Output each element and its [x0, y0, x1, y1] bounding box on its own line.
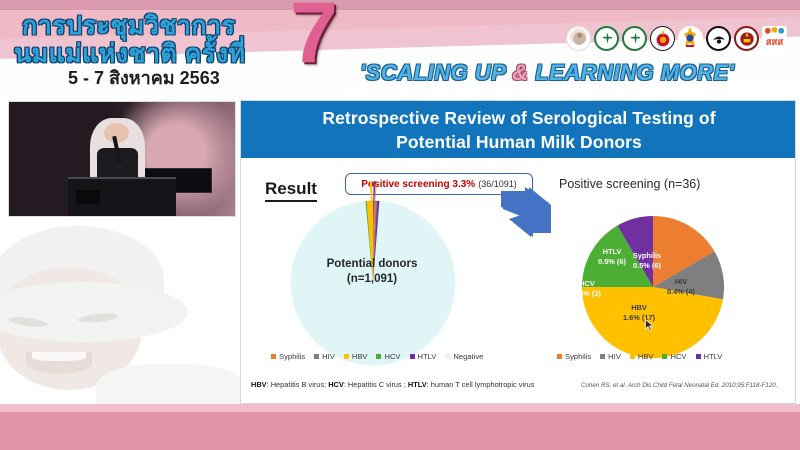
- footnote-abbr-hbv: HBV: [251, 380, 267, 389]
- left-pie-label-line1: Potential donors: [297, 257, 447, 272]
- legend-swatch-htlv: [696, 354, 701, 359]
- legend-item-hbv[interactable]: HBV: [344, 352, 368, 361]
- legend-swatch-hcv: [376, 354, 381, 359]
- legend-item-hcv[interactable]: HCV: [662, 352, 686, 361]
- sliver-htlv: [373, 181, 376, 225]
- left-pie-label-line2: (n=1,091): [297, 272, 447, 287]
- legend-label-hiv: HIV: [322, 352, 335, 361]
- legend-swatch-hbv: [630, 354, 635, 359]
- footnote-text-hcv: : Hepatitis C virus ;: [344, 380, 408, 389]
- legend-item-hbv[interactable]: HBV: [630, 352, 654, 361]
- legend-label-hbv: HBV: [638, 352, 654, 361]
- footnote-abbr-htlv: HTLV: [408, 380, 427, 389]
- label-hcv-name: HCV: [567, 279, 607, 289]
- conference-date-thai: 5 - 7 สิงหาคม 2563: [68, 63, 220, 92]
- slide-citation: Cohen RS, et al. Arch Dis Child Fetal Ne…: [581, 382, 777, 389]
- tagline-part-1: 'SCALING UP: [360, 60, 512, 85]
- left-pie-sliver-pointer: [289, 179, 457, 225]
- left-pie-center-label: Potential donors (n=1,091): [297, 257, 447, 287]
- legend-item-negative[interactable]: Negative: [445, 352, 483, 361]
- legend-label-syphilis: Syphilis: [565, 352, 591, 361]
- left-pie-legend: Syphilis HIV HBV HCV HTLV Negative: [271, 352, 483, 361]
- legend-swatch-hiv: [314, 354, 319, 359]
- legend-item-htlv[interactable]: HTLV: [696, 352, 723, 361]
- right-pie-label-hiv: HIV 0.4% (4): [661, 277, 701, 296]
- footnote-text-hbv: : Hepatitis B virus;: [267, 380, 329, 389]
- legend-swatch-syphilis: [557, 354, 562, 359]
- slide-title-line-2: Potential Human Milk Donors: [241, 130, 796, 154]
- mouse-cursor-icon: [645, 319, 654, 332]
- watermark-hat-brim: [0, 282, 188, 342]
- sliver-hbv: [370, 181, 374, 225]
- right-pie-heading: Positive screening (n=36): [559, 177, 700, 191]
- logo-red-crest: [734, 26, 759, 51]
- legend-swatch-hcv: [662, 354, 667, 359]
- slide-title-bar: Retrospective Review of Serological Test…: [241, 101, 796, 158]
- legend-label-syphilis: Syphilis: [279, 352, 305, 361]
- right-pie-label-htlv: HTLV 0.5% (6): [591, 247, 633, 266]
- label-htlv-value: 0.5% (6): [591, 257, 633, 267]
- legend-item-htlv[interactable]: HTLV: [410, 352, 437, 361]
- presentation-screen: การประชุมวิชาการ นมแม่แห่งชาติ ครั้งที่ …: [0, 0, 800, 450]
- bottom-pink-bar: [0, 412, 800, 450]
- logo-thaihealth-sss: สสส: [762, 26, 787, 51]
- legend-item-hcv[interactable]: HCV: [376, 352, 400, 361]
- label-htlv-name: HTLV: [591, 247, 633, 257]
- conference-tagline: 'SCALING UP & LEARNING MORE': [360, 60, 734, 86]
- legend-swatch-htlv: [410, 354, 415, 359]
- tagline-part-2: LEARNING MORE': [529, 60, 735, 85]
- legend-label-htlv: HTLV: [704, 352, 723, 361]
- logo-thai-crest-1: [650, 26, 675, 51]
- svg-text:สสส: สสส: [766, 37, 784, 48]
- right-pie-legend: Syphilis HIV HBV HCV HTLV: [557, 352, 722, 361]
- logo-ministry-health-1: [594, 26, 619, 51]
- legend-item-hiv[interactable]: HIV: [600, 352, 621, 361]
- label-hiv-value: 0.4% (4): [661, 287, 701, 297]
- legend-swatch-hiv: [600, 354, 605, 359]
- label-hbv-value: 1.6% (17): [617, 313, 661, 323]
- right-pie-label-hbv: HBV 1.6% (17): [617, 303, 661, 322]
- legend-label-hiv: HIV: [608, 352, 621, 361]
- logo-ministry-health-2: [622, 26, 647, 51]
- legend-label-hcv: HCV: [670, 352, 686, 361]
- legend-swatch-syphilis: [271, 354, 276, 359]
- logo-black-emblem: [706, 26, 731, 51]
- footnote-abbr-hcv: HCV: [328, 380, 344, 389]
- presentation-slide: Retrospective Review of Serological Test…: [240, 100, 796, 404]
- legend-item-hiv[interactable]: HIV: [314, 352, 335, 361]
- tagline-ampersand: &: [512, 60, 528, 85]
- legend-label-htlv: HTLV: [418, 352, 437, 361]
- legend-item-syphilis[interactable]: Syphilis: [557, 352, 591, 361]
- label-hiv-name: HIV: [661, 277, 701, 287]
- video-podium: [68, 177, 176, 216]
- logo-thai-crest-2: [678, 26, 703, 51]
- legend-item-syphilis[interactable]: Syphilis: [271, 352, 305, 361]
- legend-label-hcv: HCV: [384, 352, 400, 361]
- conference-edition-number: 7: [290, 0, 338, 76]
- slide-title-line-1: Retrospective Review of Serological Test…: [241, 106, 796, 130]
- legend-label-negative: Negative: [453, 352, 483, 361]
- speaker-video-panel[interactable]: [8, 101, 236, 217]
- footnote-text-htlv: : human T cell lymphotropic virus: [427, 380, 535, 389]
- blue-arrow-icon: [499, 187, 553, 237]
- right-pie-label-hcv: HCV 0.3% (3): [567, 279, 607, 298]
- label-hbv-name: HBV: [617, 303, 661, 313]
- legend-swatch-negative: [445, 354, 450, 359]
- legend-label-hbv: HBV: [352, 352, 368, 361]
- background-child-watermark: [0, 222, 240, 414]
- sponsor-logos-row: สสส: [566, 25, 796, 51]
- label-hcv-value: 0.3% (3): [567, 289, 607, 299]
- watermark-teeth: [32, 352, 86, 361]
- conference-banner: การประชุมวิชาการ นมแม่แห่งชาติ ครั้งที่ …: [0, 0, 800, 95]
- logo-royal-emblem: [566, 26, 591, 51]
- legend-swatch-hbv: [344, 354, 349, 359]
